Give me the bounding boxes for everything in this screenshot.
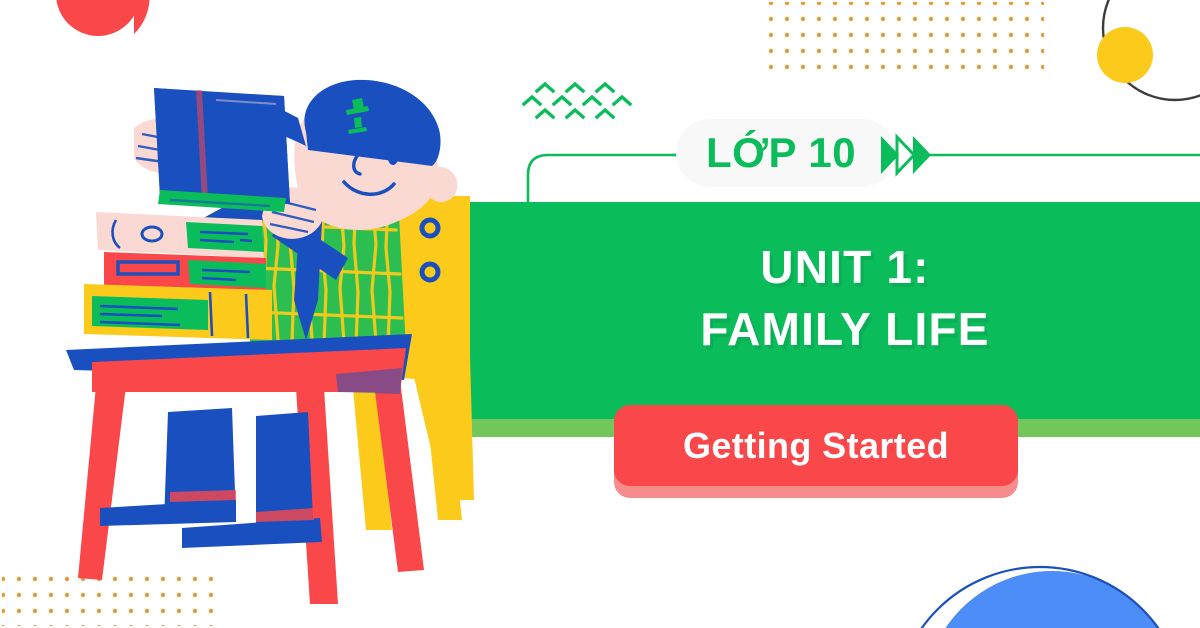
red-half-circle-icon bbox=[56, 0, 150, 36]
boy-sweater bbox=[250, 188, 406, 350]
title-line-2: FAMILY LIFE bbox=[500, 298, 1190, 360]
boy-hands bbox=[134, 118, 324, 238]
open-book bbox=[154, 88, 290, 212]
page-title: UNIT 1: FAMILY LIFE bbox=[500, 236, 1190, 360]
green-elbow-line-icon bbox=[528, 155, 700, 205]
boy-head bbox=[294, 106, 457, 230]
chair-legs bbox=[352, 378, 462, 530]
lop-badge-label: LỚP 10 bbox=[706, 126, 856, 180]
blue-thin-arc-icon bbox=[895, 567, 1185, 628]
school-desk bbox=[66, 334, 424, 604]
yellow-circle-icon bbox=[1097, 27, 1153, 83]
chair-illustration bbox=[398, 196, 474, 500]
getting-started-label: Getting Started bbox=[683, 425, 949, 467]
blue-half-circle-icon bbox=[924, 571, 1180, 628]
orange-dot-grid-top bbox=[768, 2, 1044, 76]
boy-arms bbox=[196, 186, 348, 280]
book-stack bbox=[84, 212, 272, 340]
title-line-1: UNIT 1: bbox=[500, 236, 1190, 298]
fast-forward-triangles-icon bbox=[880, 133, 932, 179]
boy-tie-knot bbox=[298, 208, 324, 232]
dark-thin-ring-icon bbox=[1103, 0, 1200, 100]
slide-canvas: LỚP 10 UNIT 1: FAMILY LIFE Getting Start… bbox=[0, 0, 1200, 628]
getting-started-button[interactable]: Getting Started bbox=[614, 405, 1018, 486]
boy-cap bbox=[224, 80, 441, 166]
boy-face bbox=[336, 139, 404, 194]
boy-tie bbox=[294, 218, 322, 340]
orange-dot-grid-bottom bbox=[2, 566, 222, 626]
green-chevron-pattern-icon bbox=[524, 84, 630, 117]
